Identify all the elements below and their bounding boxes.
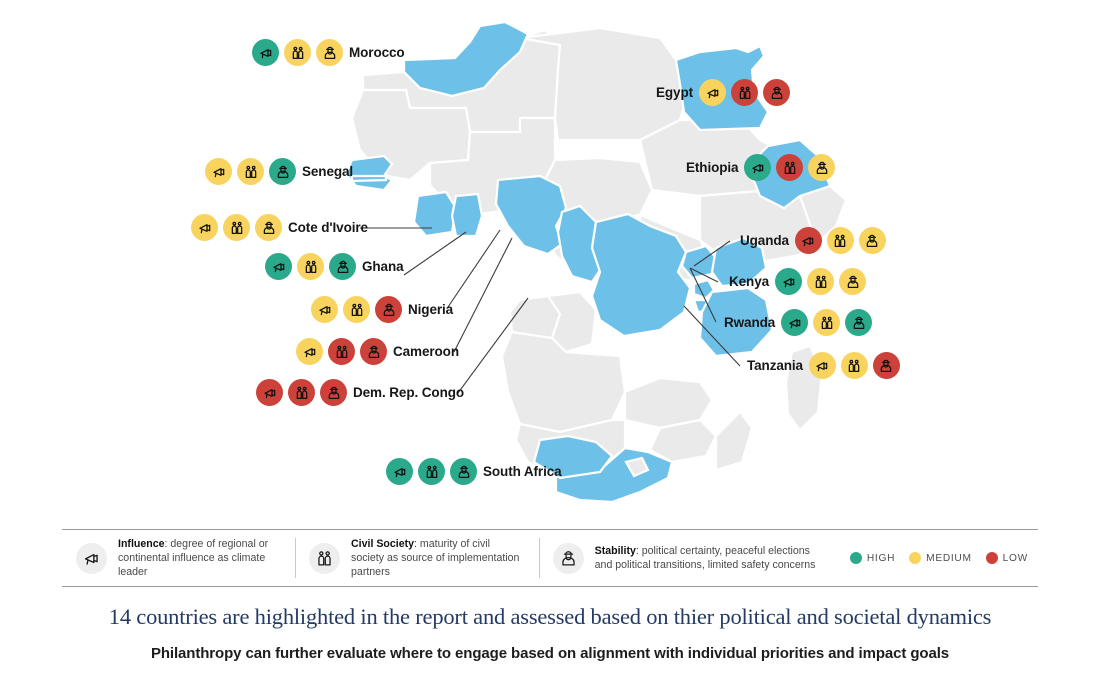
country-marker-ghana[interactable]: Ghana: [265, 253, 404, 280]
rating-dots-kenya: [775, 268, 866, 295]
rating-dots-senegal: [205, 158, 296, 185]
megaphone-icon: [302, 344, 318, 360]
rating-civil_society-medium: [297, 253, 324, 280]
rating-influence-low: [256, 379, 283, 406]
rating-influence-high: [252, 39, 279, 66]
country-marker-rwanda[interactable]: Rwanda: [724, 309, 872, 336]
megaphone-icon: [317, 302, 333, 318]
legend-key-dot-high: [850, 552, 862, 564]
country-label-morocco: Morocco: [349, 45, 405, 60]
country-label-south-africa: South Africa: [483, 464, 562, 479]
rating-influence-high: [265, 253, 292, 280]
legend-text-civil-society: Civil Society: maturity of civil society…: [351, 537, 525, 580]
rating-influence-medium: [809, 352, 836, 379]
country-marker-kenya[interactable]: Kenya: [729, 268, 866, 295]
legend-key-dot-medium: [909, 552, 921, 564]
country-marker-cameroon[interactable]: Cameroon: [296, 338, 459, 365]
rating-influence-medium: [296, 338, 323, 365]
legend-text-influence: Influence: degree of regional or contine…: [118, 537, 281, 580]
rating-stability-low: [320, 379, 347, 406]
country-label-senegal: Senegal: [302, 164, 353, 179]
legend-text-stability: Stability: political certainty, peaceful…: [595, 544, 816, 572]
legend-key-label-high: HIGH: [867, 553, 895, 564]
rating-influence-high: [775, 268, 802, 295]
rating-civil_society-medium: [237, 158, 264, 185]
two-people-icon: [832, 233, 848, 249]
legend-term-stability: Stability: [595, 545, 636, 557]
rating-dots-cote-d-ivoire: [191, 214, 282, 241]
country-marker-nigeria[interactable]: Nigeria: [311, 296, 453, 323]
rating-civil_society-medium: [284, 39, 311, 66]
connector-nigeria: [448, 230, 500, 307]
page-subheadline: Philanthropy can further evaluate where …: [0, 645, 1100, 662]
legend-term-influence: Influence: [118, 538, 165, 550]
rating-influence-high: [781, 309, 808, 336]
rating-dots-south-africa: [386, 458, 477, 485]
rating-stability-high: [329, 253, 356, 280]
rating-civil_society-low: [731, 79, 758, 106]
rating-stability-low: [375, 296, 402, 323]
rating-stability-medium: [255, 214, 282, 241]
legend-key-low: LOW: [986, 552, 1028, 564]
two-people-icon: [294, 385, 310, 401]
country-marker-dem-rep-congo[interactable]: Dem. Rep. Congo: [256, 379, 464, 406]
rating-stability-medium: [859, 227, 886, 254]
rating-civil_society-high: [418, 458, 445, 485]
megaphone-icon: [262, 385, 278, 401]
rating-stability-high: [450, 458, 477, 485]
legend-key-medium: MEDIUM: [909, 552, 972, 564]
rating-dots-ghana: [265, 253, 356, 280]
rating-influence-high: [744, 154, 771, 181]
legend-item-stability: Stability: political certainty, peaceful…: [539, 530, 830, 586]
legend-term-civil-society: Civil Society: [351, 538, 414, 550]
person-cap-icon: [845, 274, 861, 290]
rating-dots-rwanda: [781, 309, 872, 336]
megaphone-icon: [211, 164, 227, 180]
megaphone-icon: [705, 85, 721, 101]
map-country-cote-divoire: [414, 192, 456, 236]
two-people-icon: [290, 45, 306, 61]
rating-civil_society-medium: [813, 309, 840, 336]
rating-influence-medium: [191, 214, 218, 241]
country-marker-senegal[interactable]: Senegal: [205, 158, 353, 185]
rating-stability-medium: [839, 268, 866, 295]
person-cap-icon: [335, 259, 351, 275]
map-country-ghana: [452, 194, 482, 236]
map-country-nigeria: [496, 176, 566, 254]
country-label-ethiopia: Ethiopia: [686, 160, 738, 175]
legend-key-label-medium: MEDIUM: [926, 553, 972, 564]
rating-dots-nigeria: [311, 296, 402, 323]
country-marker-tanzania[interactable]: Tanzania: [747, 352, 900, 379]
country-label-cameroon: Cameroon: [393, 344, 459, 359]
rating-stability-low: [763, 79, 790, 106]
two-people-icon: [846, 358, 862, 374]
person-cap-icon: [769, 85, 785, 101]
megaphone-icon: [76, 543, 107, 574]
two-people-icon: [303, 259, 319, 275]
two-people-icon: [349, 302, 365, 318]
country-label-tanzania: Tanzania: [747, 358, 803, 373]
rating-dots-ethiopia: [744, 154, 835, 181]
two-people-icon: [737, 85, 753, 101]
legend-item-civil-society: Civil Society: maturity of civil society…: [295, 530, 539, 586]
megaphone-icon: [392, 464, 408, 480]
country-label-rwanda: Rwanda: [724, 315, 775, 330]
rating-stability-medium: [808, 154, 835, 181]
page-headline: 14 countries are highlighted in the repo…: [0, 604, 1100, 630]
country-label-dem-rep-congo: Dem. Rep. Congo: [353, 385, 464, 400]
rating-civil_society-medium: [223, 214, 250, 241]
person-cap-icon: [326, 385, 342, 401]
megaphone-icon: [787, 315, 803, 331]
country-label-kenya: Kenya: [729, 274, 769, 289]
rating-influence-high: [386, 458, 413, 485]
person-cap-icon: [275, 164, 291, 180]
rating-stability-low: [873, 352, 900, 379]
africa-map-svg: [0, 0, 1100, 520]
rating-stability-medium: [316, 39, 343, 66]
country-marker-uganda[interactable]: Uganda: [740, 227, 886, 254]
country-label-egypt: Egypt: [656, 85, 693, 100]
rating-civil_society-low: [288, 379, 315, 406]
megaphone-icon: [800, 233, 816, 249]
legend-key-high: HIGH: [850, 552, 895, 564]
person-cap-icon: [851, 315, 867, 331]
rating-dots-dem-rep-congo: [256, 379, 347, 406]
country-marker-south-africa[interactable]: South Africa: [386, 458, 562, 485]
rating-civil_society-medium: [841, 352, 868, 379]
country-marker-ethiopia[interactable]: Ethiopia: [686, 154, 835, 181]
rating-civil_society-low: [328, 338, 355, 365]
rating-civil_society-low: [776, 154, 803, 181]
country-label-ghana: Ghana: [362, 259, 404, 274]
country-marker-cote-d-ivoire[interactable]: Cote d'Ivoire: [191, 214, 368, 241]
person-cap-icon: [261, 220, 277, 236]
person-cap-icon: [814, 160, 830, 176]
two-people-icon: [229, 220, 245, 236]
legend-key-dot-low: [986, 552, 998, 564]
megaphone-icon: [814, 358, 830, 374]
rating-civil_society-medium: [343, 296, 370, 323]
rating-stability-high: [269, 158, 296, 185]
two-people-icon: [819, 315, 835, 331]
rating-dots-tanzania: [809, 352, 900, 379]
rating-dots-cameroon: [296, 338, 387, 365]
person-cap-icon: [381, 302, 397, 318]
rating-civil_society-medium: [827, 227, 854, 254]
country-label-nigeria: Nigeria: [408, 302, 453, 317]
rating-influence-low: [795, 227, 822, 254]
person-cap-icon: [864, 233, 880, 249]
rating-influence-medium: [311, 296, 338, 323]
rating-stability-low: [360, 338, 387, 365]
megaphone-icon: [197, 220, 213, 236]
person-cap-icon: [878, 358, 894, 374]
megaphone-icon: [258, 45, 274, 61]
rating-stability-high: [845, 309, 872, 336]
rating-dots-egypt: [699, 79, 790, 106]
rating-dots-morocco: [252, 39, 343, 66]
rating-influence-medium: [699, 79, 726, 106]
two-people-icon: [243, 164, 259, 180]
africa-map: [0, 0, 1100, 520]
person-cap-icon: [456, 464, 472, 480]
megaphone-icon: [271, 259, 287, 275]
country-marker-morocco[interactable]: Morocco: [252, 39, 405, 66]
person-cap-icon: [366, 344, 382, 360]
rating-civil_society-medium: [807, 268, 834, 295]
rating-influence-medium: [205, 158, 232, 185]
two-people-icon: [813, 274, 829, 290]
two-people-icon: [782, 160, 798, 176]
legend-item-influence: Influence: degree of regional or contine…: [62, 530, 295, 586]
megaphone-icon: [781, 274, 797, 290]
two-people-icon: [424, 464, 440, 480]
infographic-root: MoroccoEgyptEthiopiaSenegalCote d'Ivoire…: [0, 0, 1100, 700]
megaphone-icon: [750, 160, 766, 176]
person-cap-icon: [322, 45, 338, 61]
legend-key-label-low: LOW: [1003, 553, 1028, 564]
country-marker-egypt[interactable]: Egypt: [656, 79, 790, 106]
country-label-uganda: Uganda: [740, 233, 789, 248]
country-label-cote-d-ivoire: Cote d'Ivoire: [288, 220, 368, 235]
legend-color-key: HIGHMEDIUMLOW: [830, 530, 1038, 586]
legend: Influence: degree of regional or contine…: [62, 529, 1038, 587]
two-people-icon: [334, 344, 350, 360]
connector-ghana: [404, 232, 466, 275]
person-cap-icon: [553, 543, 584, 574]
rating-dots-uganda: [795, 227, 886, 254]
two-people-icon: [309, 543, 340, 574]
